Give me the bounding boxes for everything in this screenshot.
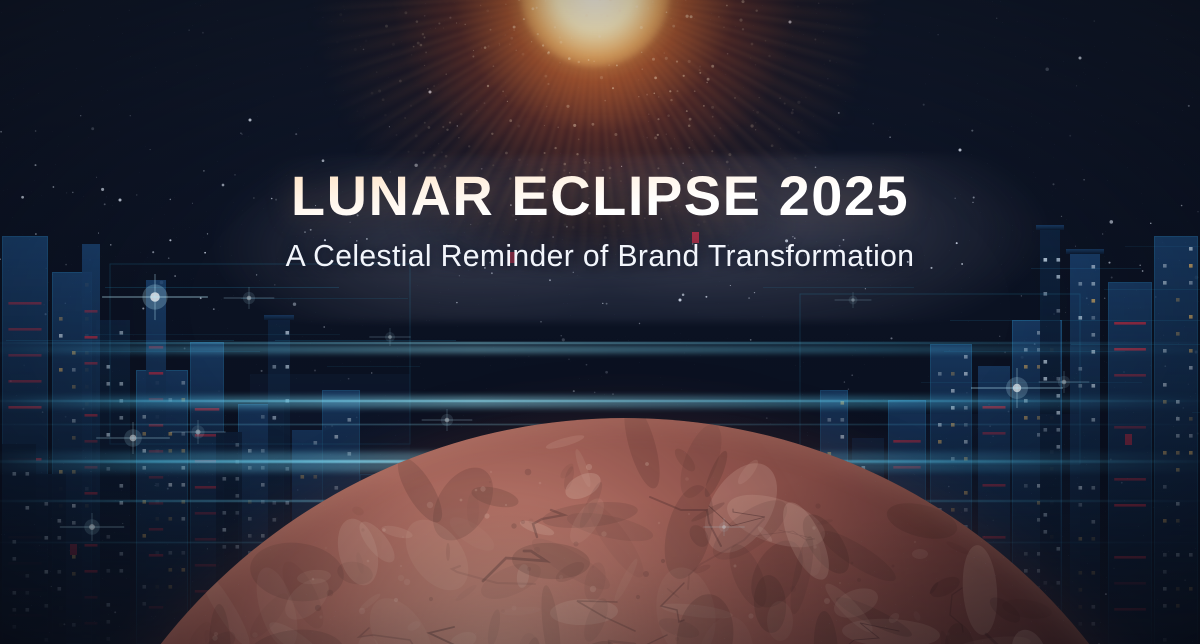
page-subtitle: A Celestial Reminder of Brand Transforma… <box>18 238 1182 274</box>
poster-canvas: LUNAR ECLIPSE 2025 A Celestial Reminder … <box>0 0 1200 644</box>
headline-block: LUNAR ECLIPSE 2025 A Celestial Reminder … <box>0 168 1200 274</box>
page-title: LUNAR ECLIPSE 2025 <box>0 168 1200 224</box>
eclipse-moon <box>35 418 1200 644</box>
